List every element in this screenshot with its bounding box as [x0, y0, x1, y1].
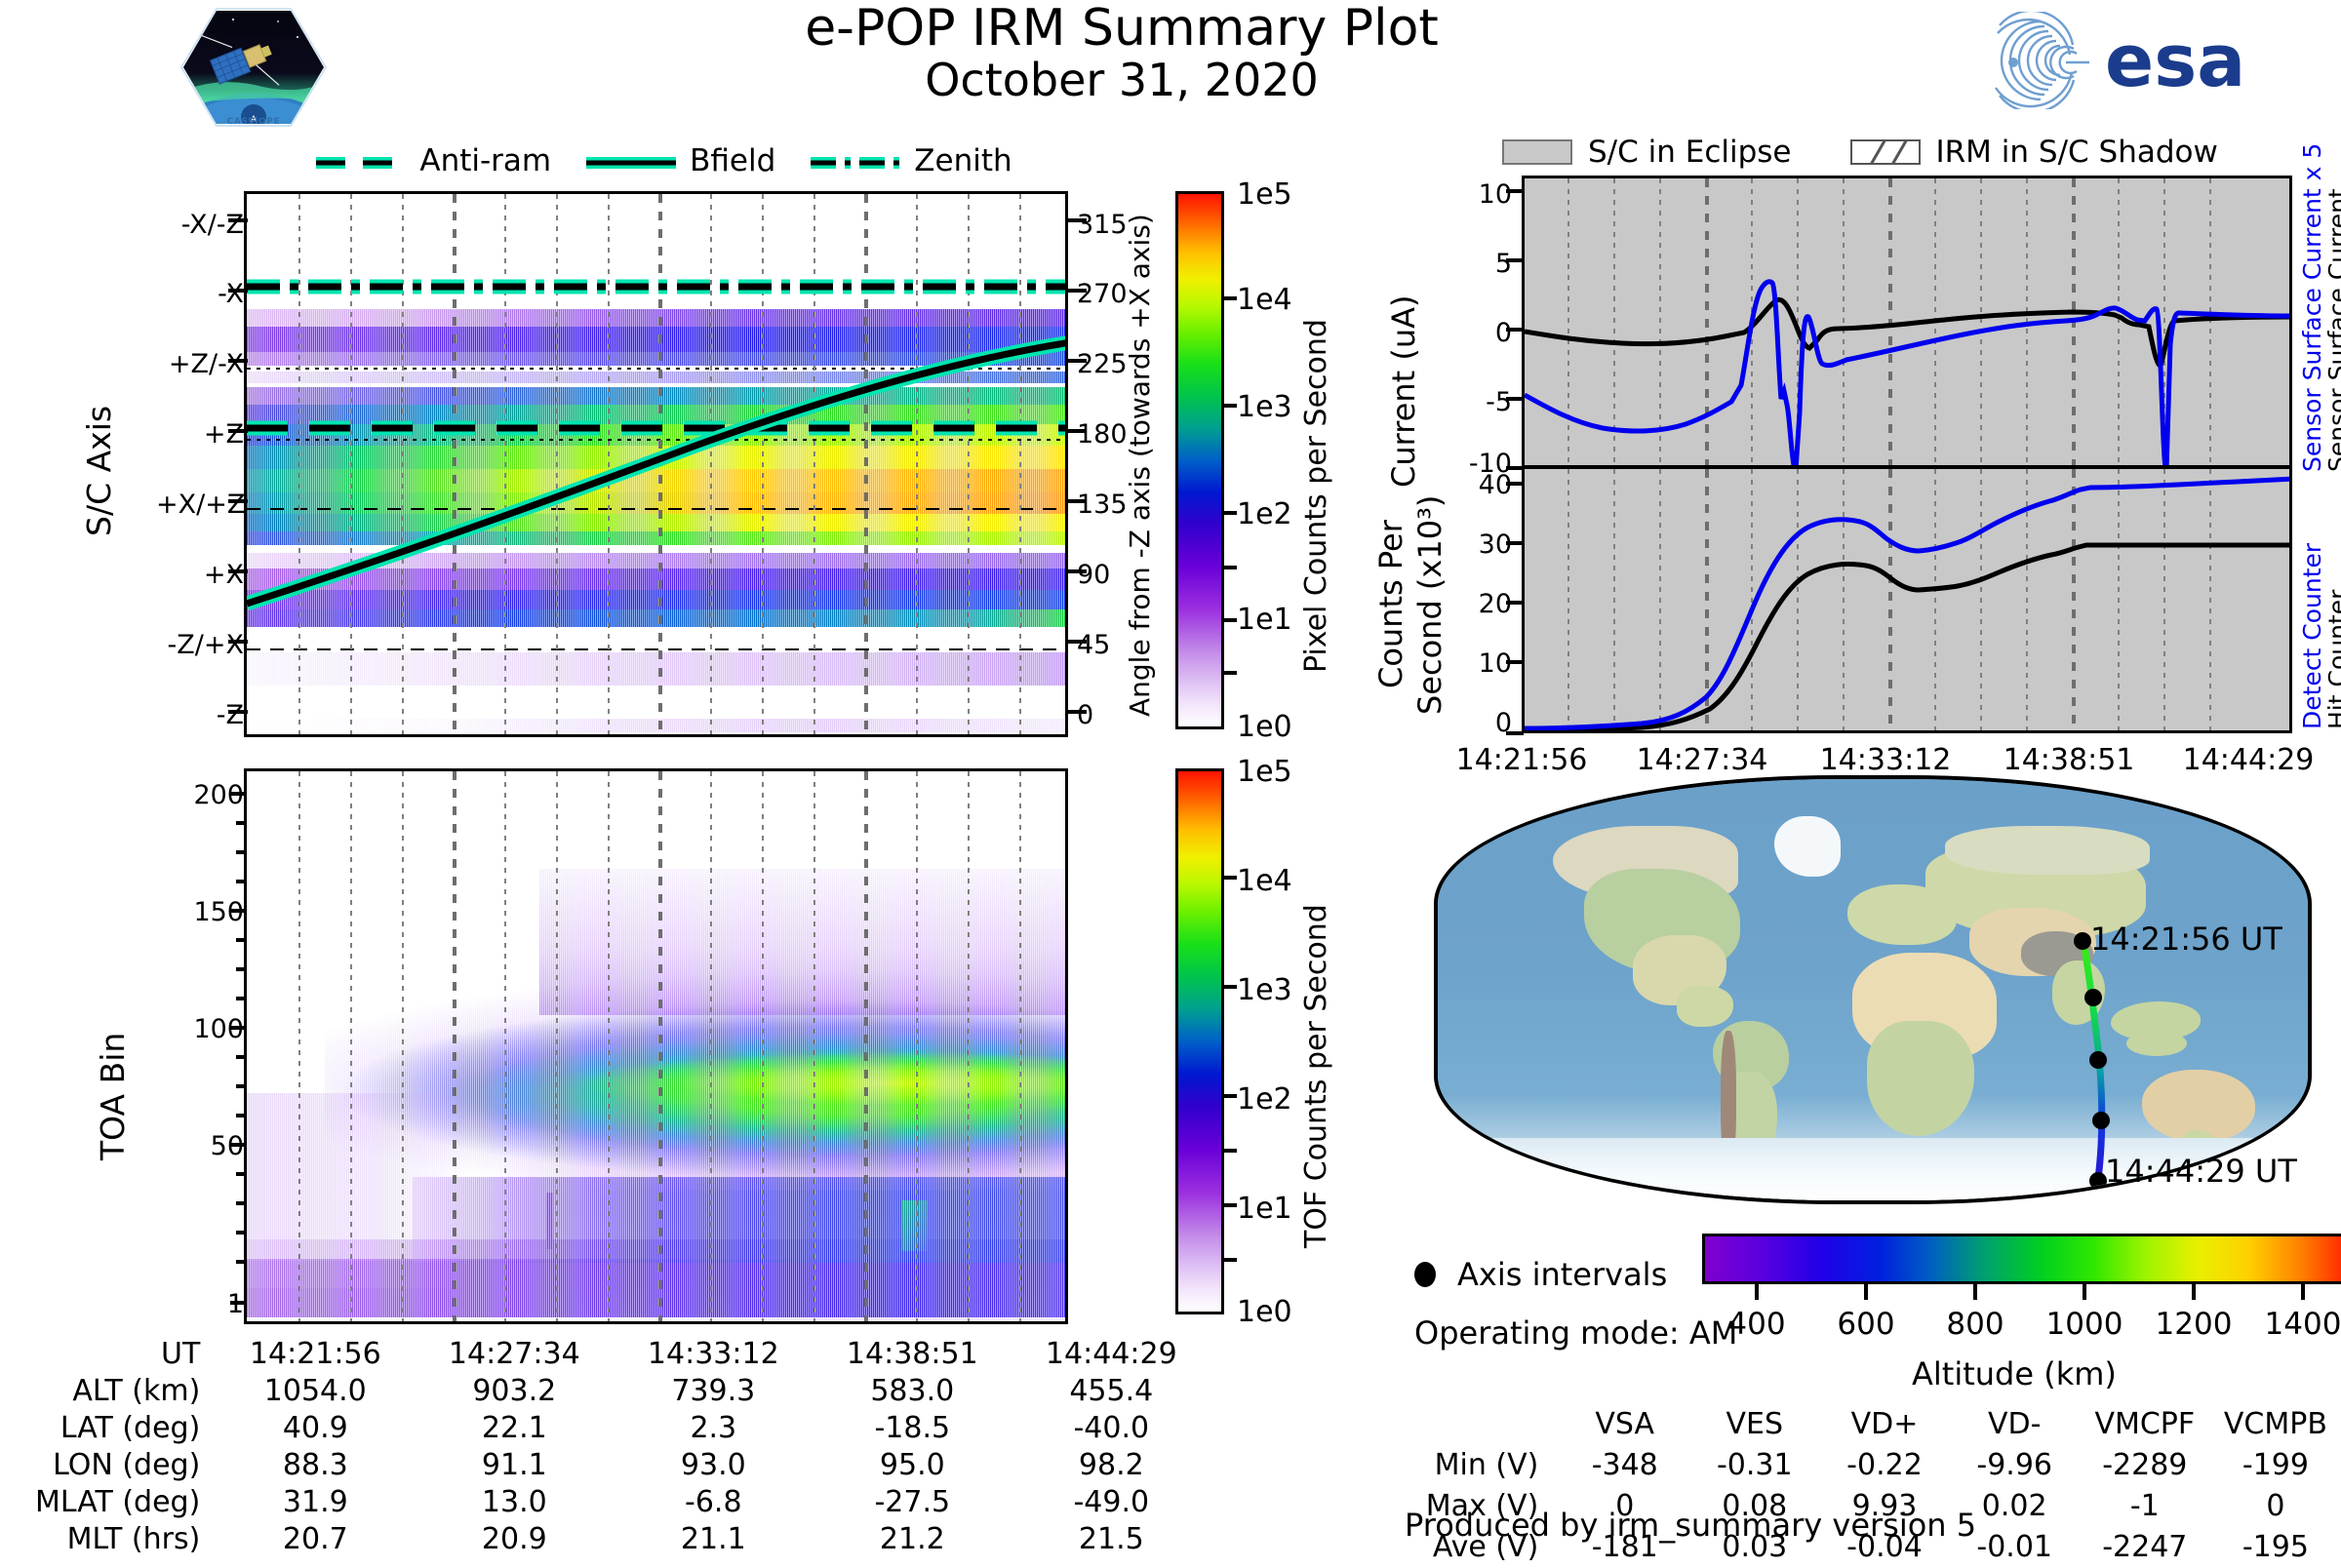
sc-axis-ylabel: S/C Axis [80, 322, 118, 536]
table-row-lat: LAT (deg) 40.9 22.1 2.3 -18.5 -40.0 [35, 1410, 1210, 1447]
right-xtick-2: 14:33:12 [1798, 743, 1973, 777]
ephem-mlt-2: 21.1 [614, 1521, 813, 1558]
ephem-lat-4: -40.0 [1012, 1410, 1210, 1447]
cbar1-tick-1e5: 1e5 [1237, 177, 1292, 212]
current-right-label-blue: Sensor Surface Current x 5 [2298, 179, 2326, 472]
ephem-ut-2: 14:33:12 [614, 1336, 813, 1373]
counts-right-label-blue: Detect Counter [2298, 476, 2326, 729]
voltage-row-min: Min (V) -348 -0.31 -0.22 -9.96 -2289 -19… [1405, 1445, 2341, 1486]
legend-label-shadow: IRM in S/C Shadow [1936, 135, 2218, 170]
voltage-col-vdminus: VD- [1950, 1404, 2080, 1445]
cbar2-tick-1e0: 1e0 [1237, 1295, 1292, 1329]
cbar2-tick-1e5: 1e5 [1237, 755, 1292, 789]
counts-plot [1522, 466, 2292, 733]
table-row-ut: UT 14:21:56 14:27:34 14:33:12 14:38:51 1… [35, 1336, 1210, 1373]
counts-left-ticks [1504, 460, 1526, 741]
ephem-lon-3: 95.0 [813, 1447, 1012, 1484]
current-ylabel: Current (uA) [1385, 224, 1422, 488]
altitude-colorbar-label: Altitude (km) [1912, 1355, 2117, 1392]
cbar1-tick-1e4: 1e4 [1237, 283, 1292, 317]
current-ytick-0: 0 [1434, 318, 1512, 348]
ephem-lat-3: -18.5 [813, 1410, 1012, 1447]
cbar1-tick-1e0: 1e0 [1237, 710, 1292, 744]
counts-ytick-20: 20 [1434, 589, 1512, 619]
current-ytick-10: 10 [1434, 179, 1512, 210]
pixel-counts-colorbar-label: Pixel Counts per Second [1299, 263, 1333, 673]
counts-right-label-black: Hit Counter [2323, 476, 2341, 729]
svg-text:esa: esa [2105, 20, 2245, 103]
ephem-ut-3: 14:38:51 [813, 1336, 1012, 1373]
table-row-mlt: MLT (hrs) 20.7 20.9 21.1 21.2 21.5 [35, 1521, 1210, 1558]
counts-ytick-40: 40 [1434, 470, 1512, 500]
zenith-line-swatch-icon [809, 155, 902, 167]
altitude-colorbar-ticks [1702, 1284, 2341, 1304]
cassiope-mission-patch-icon: A CASSIOPE [180, 8, 327, 127]
page-title: e-POP IRM Summary Plot October 31, 2020 [683, 2, 1561, 105]
current-ytick-5: 5 [1434, 249, 1512, 279]
legend-label-zenith: Zenith [914, 143, 1012, 178]
voltage-col-vdplus: VD+ [1819, 1404, 1949, 1445]
bfield-line-swatch-icon [584, 155, 678, 167]
ephem-lat-0: 40.9 [216, 1410, 415, 1447]
ephem-mlat-4: -49.0 [1012, 1484, 1210, 1521]
table-row-alt: ALT (km) 1054.0 903.2 739.3 583.0 455.4 [35, 1373, 1210, 1410]
sc-axis-overlay-lines [247, 194, 1068, 737]
voltage-min-ves: -0.31 [1689, 1445, 1819, 1486]
counts-ylabel-group: Counts Per [1373, 458, 1409, 751]
ephem-lat-1: 22.1 [415, 1410, 614, 1447]
tof-counts-colorbar-ticks [1221, 764, 1241, 1318]
produced-by-note: Produced by irm_summary version 5 [1405, 1507, 1976, 1544]
cbar2-tick-1e1: 1e1 [1237, 1192, 1292, 1226]
ephem-label-ut: UT [35, 1336, 216, 1373]
cbar2-tick-1e2: 1e2 [1237, 1082, 1292, 1117]
voltage-ave-vmcpf: -2247 [2080, 1527, 2210, 1568]
legend-item-shadow: IRM in S/C Shadow [1850, 135, 2218, 170]
sc-axis-legend: Anti-ram Bfield Zenith [293, 141, 1034, 180]
voltage-header-row: VSA VES VD+ VD- VMCPF VCMPB [1405, 1404, 2341, 1445]
toa-bin-spectrogram-plot [244, 768, 1068, 1324]
right-xtick-3: 14:38:51 [1981, 743, 2157, 777]
legend-label-anti-ram: Anti-ram [419, 143, 551, 178]
voltage-ave-vcmpb: -195 [2210, 1527, 2341, 1568]
cbar2-tick-1e4: 1e4 [1237, 864, 1292, 898]
voltage-min-vsa: -348 [1560, 1445, 1689, 1486]
altitude-colorbar [1702, 1234, 2341, 1284]
alt-tick-1400: 1400 [2249, 1307, 2341, 1342]
counts-traces [1525, 469, 2292, 733]
right-xtick-1: 14:27:34 [1614, 743, 1790, 777]
ephem-mlt-4: 21.5 [1012, 1521, 1210, 1558]
title-subtitle: October 31, 2020 [683, 56, 1561, 106]
title-main: e-POP IRM Summary Plot [683, 2, 1561, 56]
ephem-mlat-1: 13.0 [415, 1484, 614, 1521]
alt-tick-1200: 1200 [2140, 1307, 2247, 1342]
legend-item-bfield: Bfield [584, 143, 775, 178]
ephem-ut-0: 14:21:56 [216, 1336, 415, 1373]
ephem-ut-4: 14:44:29 [1012, 1336, 1210, 1373]
counts-ylabel-line1: Counts Per [1372, 521, 1409, 689]
current-ytick-neg5: -5 [1434, 387, 1512, 417]
ephem-label-mlt: MLT (hrs) [35, 1521, 216, 1558]
counts-ytick-0: 0 [1434, 708, 1512, 738]
sc-axis-left-ticks [226, 185, 250, 747]
ephem-label-mlat: MLAT (deg) [35, 1484, 216, 1521]
ephem-mlt-1: 20.9 [415, 1521, 614, 1558]
hatched-shadow-swatch-icon [1850, 139, 1921, 165]
voltage-min-vdminus: -9.96 [1950, 1445, 2080, 1486]
ephem-alt-4: 455.4 [1012, 1373, 1210, 1410]
eclipse-legend: S/C in Eclipse IRM in S/C Shadow [1502, 133, 2312, 172]
axis-interval-marker-icon [1414, 1262, 1436, 1287]
voltage-min-vcmpb: -199 [2210, 1445, 2341, 1486]
eclipse-fill-swatch-icon [1502, 139, 1572, 165]
ephem-label-lat: LAT (deg) [35, 1410, 216, 1447]
sc-axis-right-ylabel: Angle from -Z axis (towards +X axis) [1124, 210, 1156, 717]
counts-ytick-10: 10 [1434, 648, 1512, 679]
alt-tick-800: 800 [1922, 1307, 2029, 1342]
current-left-ticks [1504, 170, 1526, 474]
table-row-mlat: MLAT (deg) 31.9 13.0 -6.8 -27.5 -49.0 [35, 1484, 1210, 1521]
operating-mode-label: Operating mode: AM [1414, 1314, 1737, 1352]
current-right-label-black: Sensor Surface Current [2323, 179, 2341, 472]
ephemeris-table: UT 14:21:56 14:27:34 14:33:12 14:38:51 1… [35, 1336, 1210, 1558]
ephem-alt-0: 1054.0 [216, 1373, 415, 1410]
axis-intervals-legend: Axis intervals [1414, 1256, 1667, 1293]
cbar1-tick-1e3: 1e3 [1237, 390, 1292, 424]
legend-item-anti-ram: Anti-ram [314, 143, 551, 178]
ground-track-map [1434, 775, 2312, 1204]
voltage-col-vmcpf: VMCPF [2080, 1404, 2210, 1445]
right-xtick-4: 14:44:29 [2161, 743, 2336, 777]
legend-label-eclipse: S/C in Eclipse [1588, 135, 1792, 170]
voltage-col-vcmpb: VCMPB [2210, 1404, 2341, 1445]
counts-ytick-30: 30 [1434, 529, 1512, 560]
voltage-min-vmcpf: -2289 [2080, 1445, 2210, 1486]
ephem-alt-3: 583.0 [813, 1373, 1012, 1410]
sc-axis-spectrogram-plot [244, 191, 1068, 737]
voltage-col-ves: VES [1689, 1404, 1819, 1445]
voltage-min-vdplus: -0.22 [1819, 1445, 1949, 1486]
ephem-mlt-0: 20.7 [216, 1521, 415, 1558]
ephem-lon-1: 91.1 [415, 1447, 614, 1484]
ephem-mlat-2: -6.8 [614, 1484, 813, 1521]
ephem-label-alt: ALT (km) [35, 1373, 216, 1410]
table-row-lon: LON (deg) 88.3 91.1 93.0 95.0 98.2 [35, 1447, 1210, 1484]
legend-item-eclipse: S/C in Eclipse [1502, 135, 1792, 170]
svg-text:CASSIOPE: CASSIOPE [227, 117, 281, 127]
alt-tick-400: 400 [1703, 1307, 1810, 1342]
ephem-mlat-0: 31.9 [216, 1484, 415, 1521]
tof-counts-colorbar [1175, 768, 1224, 1314]
sc-axis-right-ticks [1065, 185, 1089, 747]
cbar1-tick-1e1: 1e1 [1237, 603, 1292, 637]
cbar2-tick-1e3: 1e3 [1237, 973, 1292, 1007]
pixel-counts-colorbar [1175, 191, 1224, 729]
pixel-counts-colorbar-ticks [1221, 187, 1241, 733]
anti-ram-line-swatch-icon [314, 155, 408, 167]
legend-label-bfield: Bfield [690, 143, 775, 178]
voltage-max-vmcpf: -1 [2080, 1486, 2210, 1527]
ephem-label-lon: LON (deg) [35, 1447, 216, 1484]
map-start-time-label: 14:21:56 UT [2090, 921, 2282, 958]
toa-bin-ylabel: TOA Bin [94, 985, 132, 1160]
alt-tick-1000: 1000 [2031, 1307, 2138, 1342]
ephem-mlt-3: 21.2 [813, 1521, 1012, 1558]
ephem-alt-1: 903.2 [415, 1373, 614, 1410]
voltage-max-vcmpb: 0 [2210, 1486, 2341, 1527]
current-traces [1525, 178, 2292, 468]
ground-track-overlay [1438, 779, 2312, 1204]
tof-counts-colorbar-label: TOF Counts per Second [1299, 829, 1333, 1248]
ephem-ut-1: 14:27:34 [415, 1336, 614, 1373]
voltage-label-min: Min (V) [1405, 1445, 1560, 1486]
ephem-lon-0: 88.3 [216, 1447, 415, 1484]
axis-intervals-label: Axis intervals [1457, 1256, 1667, 1293]
ephem-lon-2: 93.0 [614, 1447, 813, 1484]
ephem-mlat-3: -27.5 [813, 1484, 1012, 1521]
alt-tick-600: 600 [1812, 1307, 1920, 1342]
legend-item-zenith: Zenith [809, 143, 1012, 178]
right-xtick-0: 14:21:56 [1434, 743, 1609, 777]
ephem-lat-2: 2.3 [614, 1410, 813, 1447]
current-plot [1522, 176, 2292, 468]
ephem-alt-2: 739.3 [614, 1373, 813, 1410]
map-end-time-label: 14:44:29 UT [2105, 1153, 2297, 1190]
esa-logo-icon: esa [1980, 12, 2321, 109]
ephem-lon-4: 98.2 [1012, 1447, 1210, 1484]
voltage-corner-cell [1405, 1404, 1560, 1445]
voltage-col-vsa: VSA [1560, 1404, 1689, 1445]
cbar1-tick-1e2: 1e2 [1237, 497, 1292, 531]
